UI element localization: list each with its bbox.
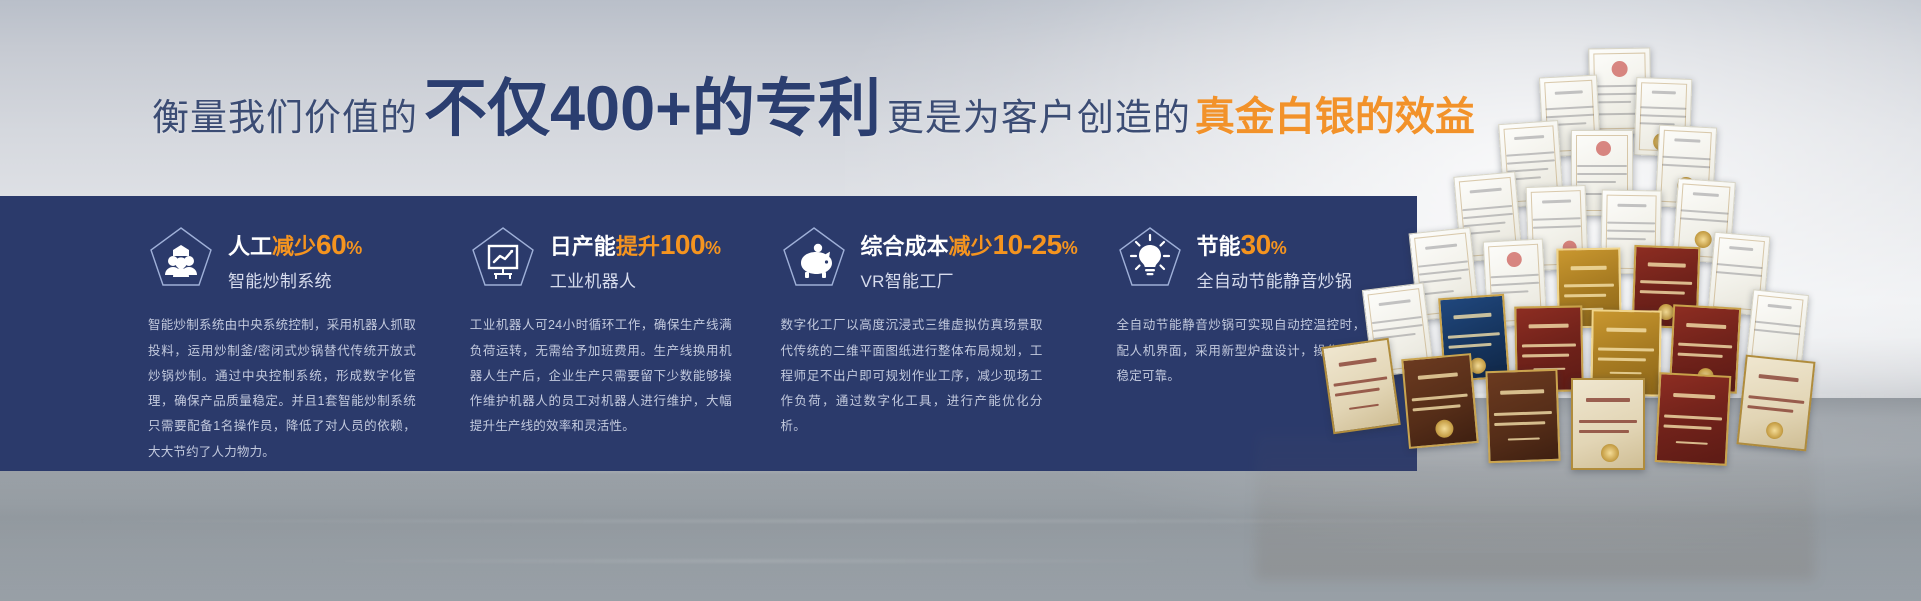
feature-title-unit: % [705, 238, 721, 258]
feature-titles: 人工减少60% 智能炒制系统 [228, 224, 362, 292]
feature-title-unit: % [346, 238, 362, 258]
feature-item-capacity-increase: 日产能提升100% 工业机器人 工业机器人可24小时循环工作，确保生产线满负荷运… [470, 196, 767, 471]
feature-title: 人工减少60% [228, 229, 362, 260]
feature-title-prefix: 综合成本 [861, 234, 949, 259]
piggy-bank-pentagon-icon [781, 225, 847, 289]
people-pentagon-icon [148, 225, 214, 289]
headline-middle: 更是为客户创造的 [887, 87, 1191, 141]
feature-title-prefix: 日产能 [550, 234, 616, 259]
feature-title-number: 100 [660, 229, 705, 260]
feature-header: 人工减少60% 智能炒制系统 [148, 224, 428, 292]
feature-title-number: 60 [316, 229, 346, 260]
award-plaque-item [1736, 355, 1815, 452]
feature-item-labor-reduction: 人工减少60% 智能炒制系统 智能炒制系统由中央系统控制，采用机器人抓取投料，运… [148, 196, 458, 471]
feature-title: 日产能提升100% [550, 229, 721, 260]
chart-board-pentagon-icon [470, 225, 536, 289]
certificate-and-award-wall [1205, 34, 1921, 514]
feature-titles: 综合成本减少10-25% VR智能工厂 [861, 224, 1078, 292]
feature-titles: 日产能提升100% 工业机器人 [550, 224, 721, 292]
feature-subtitle: VR智能工厂 [861, 267, 1078, 292]
feature-body: 工业机器人可24小时循环工作，确保生产线满负荷运转，无需给予加班费用。生产线换用… [470, 313, 732, 439]
feature-body: 数字化工厂以高度沉浸式三维虚拟仿真场景取代传统的二维平面图纸进行整体布局规划，工… [781, 313, 1043, 439]
feature-item-cost-reduction: 综合成本减少10-25% VR智能工厂 数字化工厂以高度沉浸式三维虚拟仿真场景取… [781, 196, 1101, 471]
feature-subtitle: 智能炒制系统 [228, 267, 362, 292]
feature-title-highlight: 减少 [949, 234, 993, 259]
banner-stage: 衡量我们价值的 不仅400+的专利 更是为客户创造的 真金白银的效益 [0, 0, 1921, 601]
water-streak [300, 560, 1200, 562]
award-plaque-item [1321, 338, 1401, 435]
headline-emphasis: 不仅400+的专利 [424, 78, 881, 141]
award-plaque-item [1655, 372, 1732, 466]
feature-title: 综合成本减少10-25% [861, 229, 1078, 260]
feature-title-highlight: 减少 [272, 234, 316, 259]
lightbulb-pentagon-icon [1117, 225, 1183, 289]
feature-body: 智能炒制系统由中央系统控制，采用机器人抓取投料，运用炒制釜/密闭式炒锅替代传统开… [148, 313, 416, 465]
feature-title-prefix: 人工 [228, 234, 272, 259]
award-plaque-item [1571, 378, 1645, 470]
feature-subtitle: 工业机器人 [550, 267, 721, 292]
award-plaque-item [1401, 353, 1479, 449]
feature-title-highlight: 提升 [616, 234, 660, 259]
feature-title-number: 10-25 [993, 229, 1062, 260]
headline-lead: 衡量我们价值的 [152, 87, 418, 141]
feature-title-unit: % [1062, 238, 1078, 258]
feature-header: 综合成本减少10-25% VR智能工厂 [781, 224, 1071, 292]
feature-header: 日产能提升100% 工业机器人 [470, 224, 737, 292]
award-plaque-item [1485, 369, 1560, 463]
